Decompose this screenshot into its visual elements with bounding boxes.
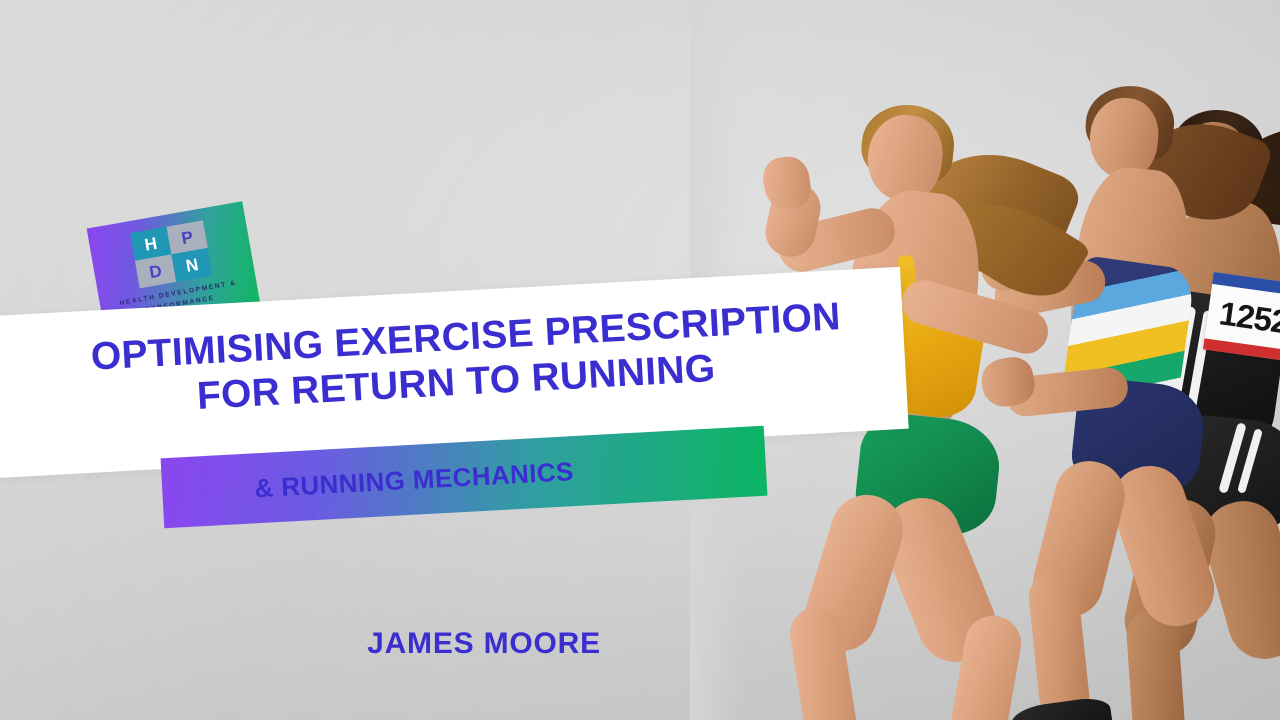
- logo-tile-n: N: [171, 248, 212, 282]
- presentation-slide: 1252: [0, 0, 1280, 720]
- presenter-name: JAMES MOORE: [0, 627, 968, 661]
- logo-letter-tiles: H P D N: [130, 220, 213, 288]
- logo-tile-d: D: [135, 254, 176, 288]
